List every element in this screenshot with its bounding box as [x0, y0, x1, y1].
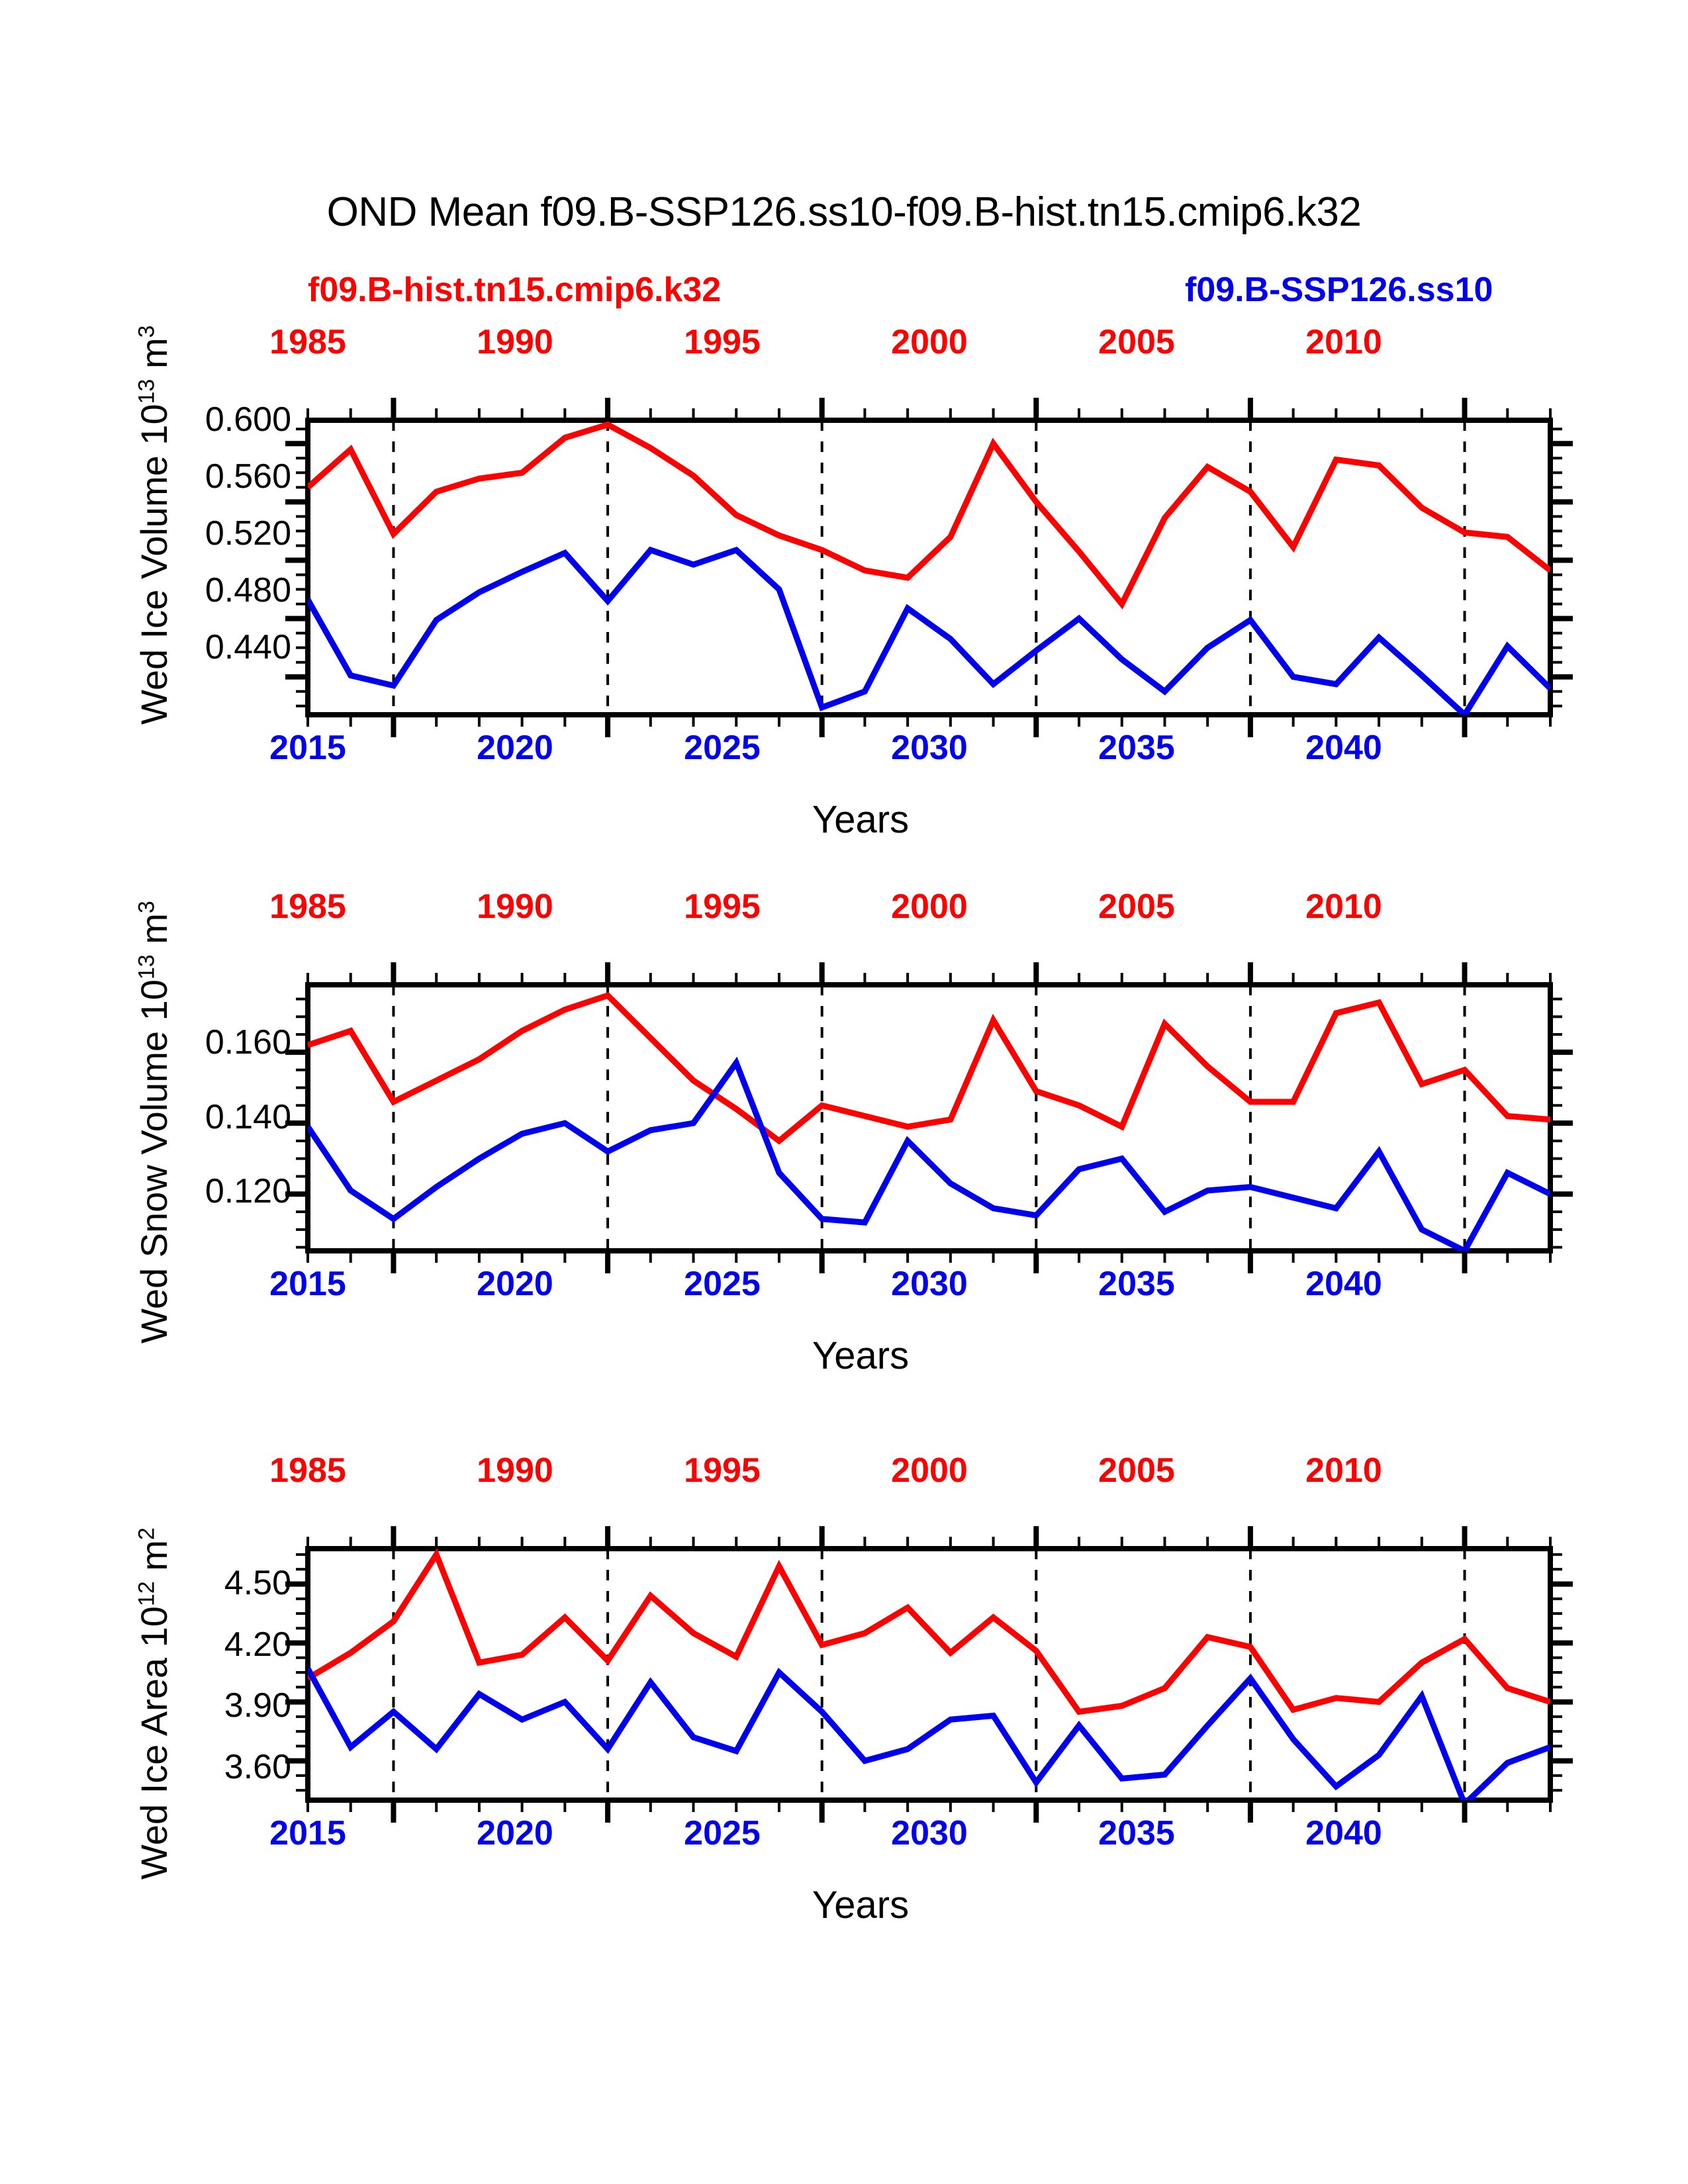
panel1-y-axis-text: Wed Ice Volume 10 — [133, 404, 175, 725]
panel2-plot-area — [308, 985, 1550, 1251]
panel3-top-tick-1: 1990 — [439, 1451, 591, 1490]
panel3-top-tick-5: 2010 — [1268, 1451, 1420, 1490]
panel3-ytick-0: 4.50 — [192, 1563, 291, 1603]
panel1-ytick-4: 0.440 — [192, 627, 291, 667]
panel1-bottom-tick-2: 2025 — [646, 728, 798, 768]
panel1-bottom-tick-4: 2035 — [1060, 728, 1213, 768]
panel3-y-axis-unit-exponent: 2 — [134, 1527, 159, 1540]
panel2-y-axis-unit: m — [133, 913, 175, 954]
panel2-y-axis-unit-exponent: 3 — [134, 901, 159, 913]
legend-label-hist: f09.B-hist.tn15.cmip6.k32 — [308, 270, 721, 310]
panel1-y-axis-unit-exponent: 3 — [134, 325, 159, 338]
panel2-y-axis-text: Wed Snow Volume 10 — [133, 979, 175, 1343]
panel1-top-tick-3: 2000 — [853, 322, 1006, 362]
panel2-top-tick-1: 1990 — [439, 887, 591, 927]
panel1-bottom-tick-5: 2040 — [1268, 728, 1420, 768]
panel3-bottom-tick-4: 2035 — [1060, 1813, 1213, 1853]
panel3-bottom-tick-0: 2015 — [232, 1813, 384, 1853]
panel2-bottom-tick-3: 2030 — [853, 1264, 1006, 1304]
panel3-top-tick-3: 2000 — [853, 1451, 1006, 1490]
panel1-top-tick-4: 2005 — [1060, 322, 1213, 362]
panel3-y-axis-exponent: 12 — [134, 1581, 159, 1606]
panel1-top-tick-2: 1995 — [646, 322, 798, 362]
panel3-ytick-1: 4.20 — [192, 1625, 291, 1664]
panel1-bottom-tick-3: 2030 — [853, 728, 1006, 768]
panel1-x-axis-label: Years — [781, 797, 940, 842]
panel3-top-tick-2: 1995 — [646, 1451, 798, 1490]
panel1-ytick-2: 0.520 — [192, 514, 291, 553]
panel1-top-tick-1: 1990 — [439, 322, 591, 362]
series-line-hist — [308, 995, 1550, 1141]
series-line-ssp — [308, 1063, 1550, 1251]
panel1-y-axis-unit: m — [133, 338, 175, 379]
panel2-ytick-2: 0.120 — [192, 1171, 291, 1211]
panel1-ytick-1: 0.560 — [192, 457, 291, 496]
page-title: OND Mean f09.B-SSP126.ss10-f09.B-hist.tn… — [0, 189, 1688, 236]
panel2-bottom-tick-5: 2040 — [1268, 1264, 1420, 1304]
panel1-top-tick-5: 2010 — [1268, 322, 1420, 362]
panel2-y-axis-exponent: 13 — [134, 954, 159, 979]
series-line-hist — [308, 425, 1550, 604]
panel2-bottom-tick-0: 2015 — [232, 1264, 384, 1304]
panel2-top-tick-5: 2010 — [1268, 887, 1420, 927]
panel3-ytick-3: 3.60 — [192, 1747, 291, 1787]
panel1-bottom-tick-0: 2015 — [232, 728, 384, 768]
panel3-ytick-2: 3.90 — [192, 1686, 291, 1725]
panel2-bottom-tick-1: 2020 — [439, 1264, 591, 1304]
series-line-hist — [308, 1555, 1550, 1712]
panel3-top-tick-0: 1985 — [232, 1451, 384, 1490]
panel2-bottom-tick-4: 2035 — [1060, 1264, 1213, 1304]
panel1-y-axis-label: Wed Ice Volume 1013 m3 — [132, 325, 175, 725]
panel2-top-tick-2: 1995 — [646, 887, 798, 927]
panel3-x-axis-label: Years — [781, 1883, 940, 1927]
panel3-bottom-tick-3: 2030 — [853, 1813, 1006, 1853]
panel2-ytick-0: 0.160 — [192, 1023, 291, 1062]
panel2-y-axis-label: Wed Snow Volume 1013 m3 — [132, 901, 175, 1343]
panel1-bottom-tick-1: 2020 — [439, 728, 591, 768]
legend-label-ssp: f09.B-SSP126.ss10 — [1185, 270, 1493, 310]
panel1-ytick-3: 0.480 — [192, 570, 291, 610]
panel3-bottom-tick-5: 2040 — [1268, 1813, 1420, 1853]
panel2-bottom-tick-2: 2025 — [646, 1264, 798, 1304]
panel3-bottom-tick-1: 2020 — [439, 1813, 591, 1853]
panel3-top-tick-4: 2005 — [1060, 1451, 1213, 1490]
panel2-top-tick-4: 2005 — [1060, 887, 1213, 927]
panel2-top-tick-3: 2000 — [853, 887, 1006, 927]
panel3-y-axis-unit: m — [133, 1540, 175, 1581]
panel3-y-axis-label: Wed Ice Area 1012 m2 — [132, 1527, 175, 1880]
panel3-bottom-tick-2: 2025 — [646, 1813, 798, 1853]
panel2-ytick-1: 0.140 — [192, 1097, 291, 1137]
panel2-x-axis-label: Years — [781, 1334, 940, 1378]
series-line-ssp — [308, 550, 1550, 715]
panel3-plot-area — [308, 1549, 1550, 1800]
panel1-ytick-0: 0.600 — [192, 400, 291, 439]
figure-root: OND Mean f09.B-SSP126.ss10-f09.B-hist.tn… — [0, 0, 1688, 2184]
panel1-y-axis-exponent: 13 — [134, 379, 159, 404]
series-line-ssp — [308, 1668, 1550, 1804]
panel1-top-tick-0: 1985 — [232, 322, 384, 362]
panel1-plot-area — [308, 420, 1550, 715]
panel3-y-axis-text: Wed Ice Area 10 — [133, 1606, 175, 1880]
panel2-top-tick-0: 1985 — [232, 887, 384, 927]
